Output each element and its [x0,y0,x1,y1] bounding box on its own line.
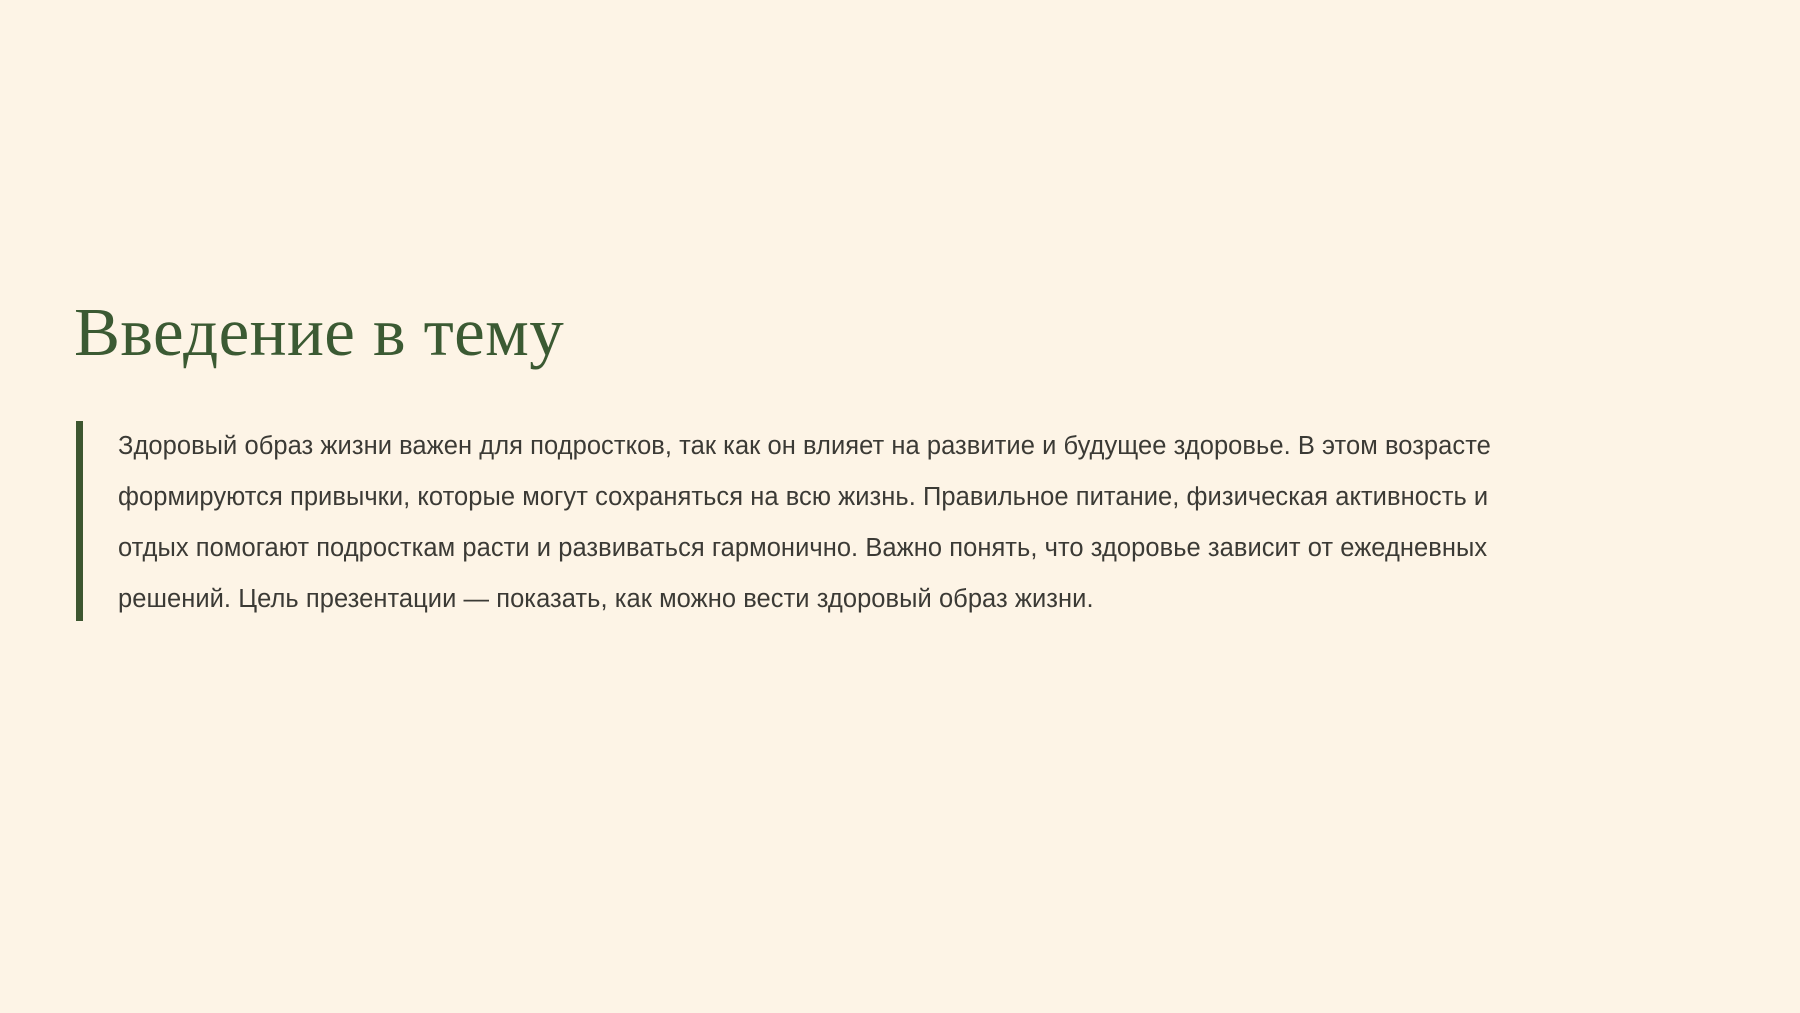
accent-bar [76,421,83,621]
body-paragraph: Здоровый образ жизни важен для подростко… [118,421,1498,625]
page-title: Введение в тему [74,296,1714,368]
slide-content: Введение в тему Здоровый образ жизни важ… [74,296,1714,625]
slide-root: Введение в тему Здоровый образ жизни важ… [0,0,1800,1013]
body-block: Здоровый образ жизни важен для подростко… [74,421,1714,625]
